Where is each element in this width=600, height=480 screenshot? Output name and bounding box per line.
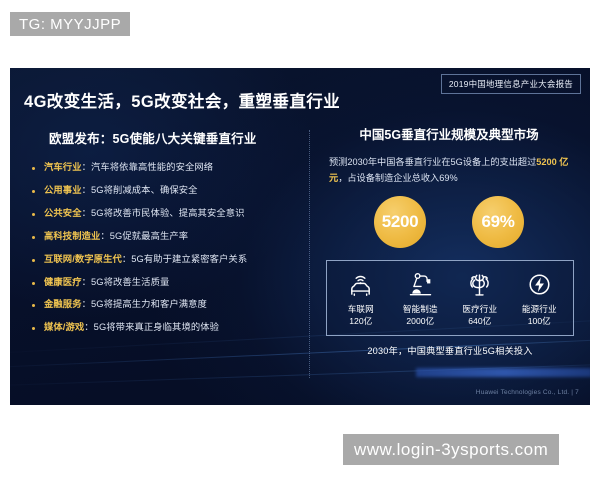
left-column-heading: 欧盟发布：5G使能八大关键垂直行业	[49, 128, 302, 147]
bullet-label: 公共安全	[44, 208, 82, 218]
bullet-label: 媒体/游戏	[44, 322, 84, 332]
industry-label: 医疗行业	[451, 303, 509, 315]
bottom-watermark: www.login-3ysports.com	[343, 434, 559, 465]
bullet-text: 公共安全：5G将改善市民体验、提高其安全意识	[44, 206, 245, 220]
bullet-dot-icon	[32, 327, 35, 330]
lightning-bolt-icon	[510, 270, 568, 299]
bullet-dot-icon	[32, 236, 35, 239]
left-column: 欧盟发布：5G使能八大关键垂直行业 汽车行业：汽车将依靠高性能的安全网络 公用事…	[32, 128, 302, 343]
presentation-slide: 4G改变生活，5G改变社会，重塑垂直行业 2019中国地理信息产业大会报告 欧盟…	[10, 68, 590, 405]
industry-icon-panel: 车联网 120亿 智能制造 2000亿	[326, 260, 574, 335]
bullet-text: 公用事业：5G将削减成本、确保安全	[44, 183, 198, 197]
bullet-description: ：5G将改善生活质量	[82, 277, 170, 287]
bullet-text: 高科技制造业：5G促就最高生产率	[44, 229, 188, 243]
bullet-dot-icon	[32, 304, 35, 307]
bullet-dot-icon	[32, 213, 35, 216]
industry-item-smart-manufacturing: 智能制造 2000亿	[391, 270, 449, 327]
slide-footer: Huawei Technologies Co., Ltd. | 7	[476, 389, 579, 396]
bullet-description: ：5G促就最高生产率	[100, 231, 188, 241]
robot-arm-icon	[391, 270, 449, 299]
bullet-dot-icon	[32, 190, 35, 193]
industry-value: 100亿	[510, 315, 568, 327]
bullet-label: 健康医疗	[44, 277, 82, 287]
bullet-text: 健康医疗：5G将改善生活质量	[44, 275, 169, 289]
stat-circle-revenue-share: 69%	[472, 196, 524, 248]
right-column-heading: 中国5G垂直行业规模及典型市场	[317, 124, 581, 143]
right-column: 中国5G垂直行业规模及典型市场 预测2030年中国各垂直行业在5G设备上的支出超…	[317, 124, 581, 357]
industry-label: 车联网	[332, 303, 390, 315]
bullet-text: 汽车行业：汽车将依靠高性能的安全网络	[44, 160, 213, 174]
bullet-text: 金融服务：5G将提高生力和客户满意度	[44, 297, 207, 311]
blurred-source-line	[416, 368, 590, 377]
industry-label: 能源行业	[510, 303, 568, 315]
conference-badge: 2019中国地理信息产业大会报告	[441, 74, 581, 94]
caduceus-medical-icon	[451, 270, 509, 299]
connected-car-icon	[332, 270, 390, 299]
list-item: 高科技制造业：5G促就最高生产率	[32, 229, 302, 243]
bullet-label: 互联网/数字原生代	[44, 254, 122, 264]
industry-value: 640亿	[451, 315, 509, 327]
bullet-description: ：5G将带来真正身临其境的体验	[84, 322, 219, 332]
bullet-dot-icon	[32, 259, 35, 262]
description-part1: 预测2030年中国各垂直行业在5G设备上的支出超过	[329, 157, 536, 167]
bullet-text: 互联网/数字原生代：5G有助于建立紧密客户关系	[44, 252, 247, 266]
bullet-description: ：5G将提高生力和客户满意度	[82, 299, 207, 309]
bullet-description: ：5G有助于建立紧密客户关系	[122, 254, 247, 264]
bullet-description: ：汽车将依靠高性能的安全网络	[82, 162, 214, 172]
list-item: 汽车行业：汽车将依靠高性能的安全网络	[32, 160, 302, 174]
list-item: 健康医疗：5G将改善生活质量	[32, 275, 302, 289]
industry-item-energy: 能源行业 100亿	[510, 270, 568, 327]
stat-circle-total-spend: 5200	[374, 196, 426, 248]
description-part2: ，占设备制造企业总收入69%	[338, 173, 457, 183]
list-item: 金融服务：5G将提高生力和客户满意度	[32, 297, 302, 311]
stat-circle-group: 5200 69%	[317, 196, 581, 248]
list-item: 互联网/数字原生代：5G有助于建立紧密客户关系	[32, 252, 302, 266]
icon-panel-caption: 2030年，中国典型垂直行业5G相关投入	[326, 343, 574, 357]
bullet-label: 汽车行业	[44, 162, 82, 172]
bullet-description: ：5G将削减成本、确保安全	[82, 185, 198, 195]
bullet-text: 媒体/游戏：5G将带来真正身临其境的体验	[44, 320, 219, 334]
list-item: 公共安全：5G将改善市民体验、提高其安全意识	[32, 206, 302, 220]
industry-label: 智能制造	[391, 303, 449, 315]
industry-item-connected-car: 车联网 120亿	[332, 270, 390, 327]
top-watermark: TG: MYYJJPP	[10, 12, 130, 36]
list-item: 公用事业：5G将削减成本、确保安全	[32, 183, 302, 197]
column-divider	[309, 130, 310, 378]
slide-title: 4G改变生活，5G改变社会，重塑垂直行业	[24, 88, 340, 112]
right-column-description: 预测2030年中国各垂直行业在5G设备上的支出超过5200 亿元，占设备制造企业…	[329, 154, 571, 186]
bullet-label: 高科技制造业	[44, 231, 100, 241]
bullet-label: 公用事业	[44, 185, 82, 195]
bullet-dot-icon	[32, 282, 35, 285]
industry-item-healthcare: 医疗行业 640亿	[451, 270, 509, 327]
list-item: 媒体/游戏：5G将带来真正身临其境的体验	[32, 320, 302, 334]
bullet-dot-icon	[32, 167, 35, 170]
bullet-description: ：5G将改善市民体验、提高其安全意识	[82, 208, 245, 218]
industry-value: 2000亿	[391, 315, 449, 327]
bullet-label: 金融服务	[44, 299, 82, 309]
industry-value: 120亿	[332, 315, 390, 327]
